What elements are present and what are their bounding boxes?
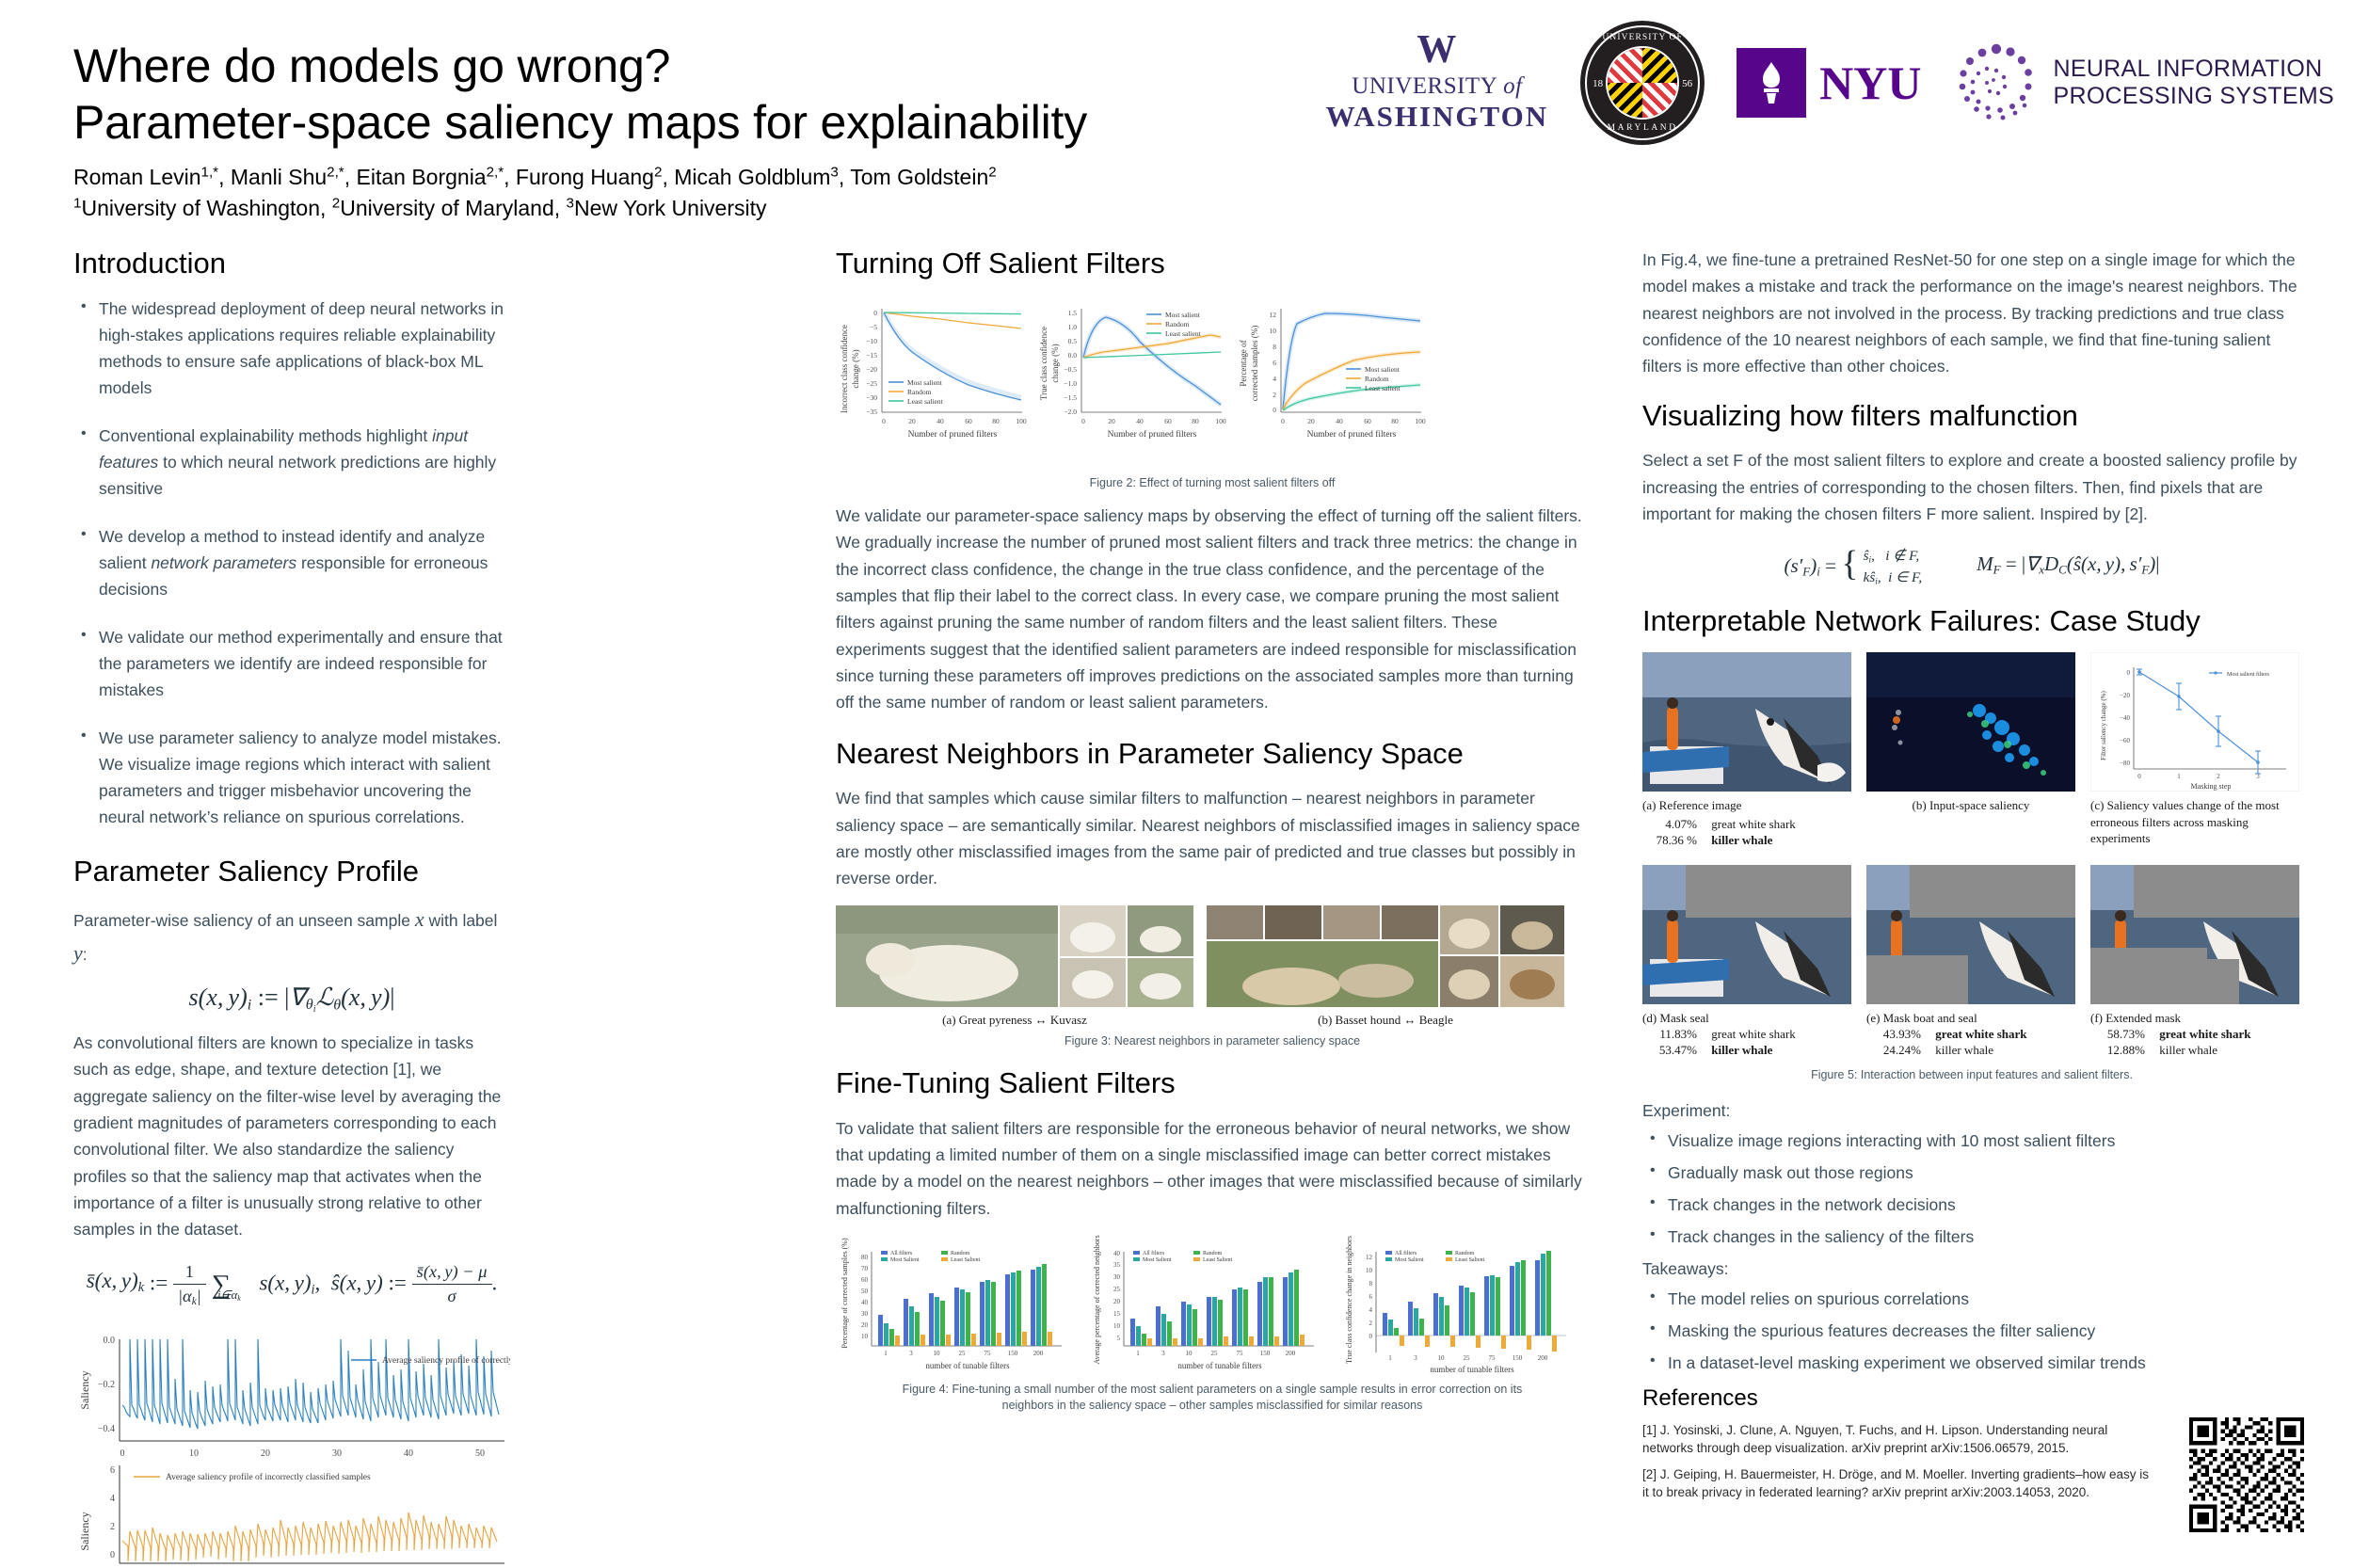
figure-5-panel-c: Filter saliency change (%) 0−20−40 −60−8… — [2090, 652, 2299, 847]
svg-text:Percentage of corrected sample: Percentage of corrected samples (%) — [840, 1238, 849, 1349]
svg-text:All filters: All filters — [890, 1250, 913, 1256]
svg-text:60: 60 — [1164, 417, 1172, 425]
equation-boosted-saliency: (s′F)i = { ŝi, i ∉ F, kŝi, i ∈ F, MF =… — [1642, 540, 2301, 588]
svg-text:10: 10 — [934, 1350, 941, 1357]
svg-text:−1.5: −1.5 — [1064, 393, 1077, 402]
svg-text:Saliency: Saliency — [78, 1512, 91, 1550]
qr-code[interactable] — [2189, 1417, 2304, 1532]
neurips-spiral-icon — [1953, 40, 2040, 126]
list-item: We validate our method experimentally an… — [73, 624, 510, 703]
figure-3-grid-a — [836, 905, 1193, 1007]
umd-year-left: 18 — [1593, 78, 1603, 89]
figure-4-svg: Percentage of corrected samples (%) 1020… — [836, 1235, 1589, 1376]
svg-text:60: 60 — [965, 417, 972, 425]
panel-d-tag: (d) Mask seal — [1642, 1010, 1851, 1026]
svg-text:Most salient: Most salient — [907, 378, 943, 387]
umd-seal-logo: UNIVERSITY OF MARYLAND 18 56 — [1580, 21, 1705, 145]
svg-text:4: 4 — [1273, 375, 1276, 383]
svg-text:25: 25 — [1113, 1286, 1121, 1293]
svg-text:0: 0 — [120, 1448, 125, 1459]
svg-text:Number of pruned filters: Number of pruned filters — [1108, 429, 1197, 440]
figure-5-row-2: (d) Mask seal 11.83% great white shark 5… — [1642, 865, 2301, 1058]
svg-text:75: 75 — [984, 1350, 992, 1357]
svg-text:20: 20 — [1113, 1298, 1121, 1305]
svg-text:0: 0 — [2127, 669, 2131, 677]
svg-text:0: 0 — [2137, 773, 2141, 780]
svg-text:6: 6 — [1273, 359, 1276, 367]
svg-text:−35: −35 — [866, 408, 877, 416]
experiment-label: Experiment: — [1642, 1097, 2301, 1124]
figure-1-saliency-profiles: Saliency 0.0 −0.2 −0.4 01020 304050 Aver… — [73, 1322, 510, 1568]
panel-a-image — [1642, 652, 1851, 792]
column-left: Introduction The widespread deployment o… — [73, 247, 510, 1568]
svg-text:−40: −40 — [2120, 714, 2130, 722]
svg-text:Random: Random — [907, 388, 932, 396]
figure-2-turning-off: Incorrect class confidence change (%) 0−… — [836, 296, 1589, 491]
svg-text:−5: −5 — [870, 323, 877, 331]
neurips-logo: NEURAL INFORMATION PROCESSING SYSTEMS — [1953, 40, 2334, 126]
profile-lead-text: Parameter-wise saliency of an unseen sam… — [73, 903, 510, 969]
svg-text:Average percentage of correcte: Average percentage of corrected neighbor… — [1093, 1235, 1101, 1365]
svg-text:150: 150 — [1513, 1354, 1523, 1362]
svg-text:Least Salient: Least Salient — [951, 1257, 980, 1263]
svg-text:10: 10 — [1270, 327, 1277, 335]
figure-4-caption: Figure 4: Fine-tuning a small number of … — [836, 1382, 1589, 1415]
figure-3-grid-b — [1207, 905, 1564, 1007]
heading-introduction: Introduction — [73, 247, 510, 280]
figure-4-caption-line2: neighbors in the saliency space – other … — [1002, 1399, 1423, 1412]
column-right: In Fig.4, we fine-tune a pretrained ResN… — [1642, 247, 2301, 1511]
svg-text:60: 60 — [1364, 417, 1371, 425]
panel-a-pred1: 4.07% great white shark — [1642, 816, 1851, 832]
svg-text:Most Salient: Most Salient — [1395, 1257, 1424, 1263]
svg-text:0: 0 — [110, 1550, 115, 1560]
poster-root: Where do models go wrong? Parameter-spac… — [0, 0, 2353, 1568]
svg-text:25: 25 — [1211, 1350, 1219, 1357]
heading-references: References — [1642, 1385, 2301, 1412]
svg-text:80: 80 — [861, 1254, 869, 1261]
panel-f-tag: (f) Extended mask — [2090, 1010, 2299, 1026]
svg-text:Least salient: Least salient — [907, 397, 944, 406]
introduction-bullets: The widespread deployment of deep neural… — [73, 296, 510, 830]
equation-boost-left: (s′F)i = { ŝi, i ∉ F, kŝi, i ∈ F, — [1785, 540, 1923, 588]
figure-3-panel-b: (b) Basset hound ↔ Beagle — [1207, 905, 1564, 1028]
svg-text:1: 1 — [884, 1350, 888, 1357]
fig4-intro-text: In Fig.4, we fine-tune a pretrained ResN… — [1642, 247, 2301, 380]
svg-text:0: 0 — [882, 417, 886, 425]
svg-text:Average saliency profile of co: Average saliency profile of correctly cl… — [382, 1355, 510, 1366]
svg-text:1: 1 — [1388, 1354, 1392, 1362]
svg-text:1: 1 — [1136, 1350, 1140, 1357]
svg-text:2: 2 — [110, 1522, 115, 1532]
figure-5-panel-b: (b) Input-space saliency — [1866, 652, 2075, 847]
figure-5-panel-a: (a) Reference image 4.07% great white sh… — [1642, 652, 1851, 847]
svg-text:−0.5: −0.5 — [1064, 365, 1077, 374]
svg-text:Least Salient: Least Salient — [1455, 1257, 1484, 1263]
svg-text:1.5: 1.5 — [1068, 309, 1078, 317]
svg-text:All filters: All filters — [1143, 1250, 1165, 1256]
svg-text:3: 3 — [909, 1350, 913, 1357]
uw-line2: WASHINGTON — [1326, 100, 1549, 134]
equation-saliency-definition: s(x, y)i := |∇θiℒθ(x, y)| — [73, 984, 510, 1015]
svg-text:True class confidence: True class confidence — [1039, 327, 1048, 400]
svg-text:30: 30 — [861, 1310, 869, 1318]
list-item: We use parameter saliency to analyze mod… — [73, 725, 510, 830]
svg-text:All filters: All filters — [1395, 1250, 1417, 1256]
svg-text:0.0: 0.0 — [104, 1336, 116, 1346]
svg-text:Most Salient: Most Salient — [1143, 1257, 1172, 1263]
list-item: The model relies on spurious correlation… — [1642, 1286, 2301, 1312]
takeaways-label: Takeaways: — [1642, 1256, 2301, 1282]
svg-text:Average saliency profile of in: Average saliency profile of incorrectly … — [166, 1472, 371, 1482]
svg-text:−1.0: −1.0 — [1064, 379, 1077, 388]
svg-text:Percentage of: Percentage of — [1239, 340, 1248, 386]
svg-text:1: 1 — [2177, 773, 2181, 780]
poster-title-line1: Where do models go wrong? — [73, 38, 1259, 94]
panel-a-tag: (a) Reference image — [1642, 797, 1851, 813]
figure-3-sublabel-a: (a) Great pyreness ↔ Kuvasz — [836, 1012, 1193, 1028]
svg-text:Filter saliency change (%): Filter saliency change (%) — [2100, 691, 2107, 760]
column-middle: Turning Off Salient Filters Incorrect cl… — [836, 247, 1589, 1415]
svg-text:40: 40 — [861, 1299, 869, 1306]
svg-text:80: 80 — [992, 417, 1000, 425]
svg-text:2: 2 — [1273, 391, 1276, 399]
list-item: Conventional explainability methods high… — [73, 423, 510, 502]
svg-text:10: 10 — [1438, 1354, 1446, 1362]
svg-text:0: 0 — [1369, 1333, 1373, 1340]
svg-text:8: 8 — [1369, 1280, 1373, 1288]
svg-text:100: 100 — [1415, 417, 1426, 425]
svg-text:−25: −25 — [866, 379, 877, 388]
svg-text:−10: −10 — [866, 337, 877, 345]
list-item: Visualize image regions interacting with… — [1642, 1128, 2301, 1154]
svg-text:6: 6 — [1369, 1293, 1373, 1301]
svg-text:10: 10 — [861, 1333, 869, 1340]
svg-text:2: 2 — [2217, 773, 2220, 780]
svg-text:2: 2 — [1369, 1320, 1373, 1327]
visualizing-body-text: Select a set F of the most salient filte… — [1642, 447, 2301, 527]
svg-text:0: 0 — [1081, 417, 1085, 425]
turning-off-body-text: We validate our parameter-space saliency… — [836, 503, 1589, 716]
panel-b-tag: (b) Input-space saliency — [1866, 797, 2075, 813]
affiliation-list: 1University of Washington, 2University o… — [73, 193, 1259, 224]
panel-d-pred2: 53.47% killer whale — [1642, 1042, 1851, 1058]
svg-text:40: 40 — [936, 417, 944, 425]
svg-text:12: 12 — [1366, 1254, 1373, 1261]
svg-text:200: 200 — [1286, 1350, 1296, 1357]
svg-text:−20: −20 — [866, 365, 877, 374]
list-item: Track changes in the saliency of the fil… — [1642, 1224, 2301, 1250]
author-list: Roman Levin1,*, Manli Shu2,*, Eitan Borg… — [73, 162, 1259, 193]
svg-text:Least salient: Least salient — [1165, 329, 1202, 338]
svg-text:Least salient: Least salient — [1365, 384, 1401, 392]
heading-interpretable-network-failures: Interpretable Network Failures: Case Stu… — [1642, 604, 2301, 638]
heading-turning-off-salient-filters: Turning Off Salient Filters — [836, 247, 1589, 280]
svg-text:0: 0 — [1281, 417, 1285, 425]
svg-text:−0.2: −0.2 — [98, 1380, 115, 1390]
svg-text:3: 3 — [1414, 1354, 1417, 1362]
svg-text:Incorrect class confidence: Incorrect class confidence — [840, 325, 849, 413]
svg-text:75: 75 — [1237, 1350, 1244, 1357]
reference-2: [2] J. Geiping, H. Bauermeister, H. Drög… — [1642, 1465, 2151, 1501]
reference-1: [1] J. Yosinski, J. Clune, A. Nguyen, T.… — [1642, 1421, 2151, 1457]
torch-icon — [1737, 48, 1806, 118]
panel-f-pred2: 12.88% killer whale — [2090, 1042, 2299, 1058]
svg-text:100: 100 — [1016, 417, 1027, 425]
svg-text:80: 80 — [1192, 417, 1199, 425]
svg-text:100: 100 — [1215, 417, 1226, 425]
list-item: Masking the spurious features decreases … — [1642, 1318, 2301, 1344]
figure-2-svg: Incorrect class confidence change (%) 0−… — [836, 296, 1589, 470]
figure-1-svg: Saliency 0.0 −0.2 −0.4 01020 304050 Aver… — [73, 1322, 510, 1568]
figure-3-panel-a: (a) Great pyreness ↔ Kuvasz — [836, 905, 1193, 1028]
figure-5-panel-f: (f) Extended mask 58.73% great white sha… — [2090, 865, 2299, 1058]
uw-line1: UNIVERSITY of — [1326, 73, 1549, 100]
svg-text:200: 200 — [1538, 1354, 1548, 1362]
panel-b-image — [1866, 652, 2075, 792]
figure-5-panel-e: (e) Mask boat and seal 43.93% great whit… — [1866, 865, 2075, 1058]
nearest-neighbors-body-text: We find that samples which cause similar… — [836, 785, 1589, 891]
svg-text:0.5: 0.5 — [1068, 337, 1078, 345]
heading-nearest-neighbors: Nearest Neighbors in Parameter Saliency … — [836, 737, 1589, 771]
svg-text:10: 10 — [1186, 1350, 1193, 1357]
nyu-wordmark: NYU — [1819, 56, 1921, 110]
heading-parameter-saliency-profile: Parameter Saliency Profile — [73, 855, 510, 888]
svg-text:40: 40 — [1113, 1250, 1121, 1257]
svg-text:Number of pruned filters: Number of pruned filters — [1307, 429, 1397, 440]
svg-text:Most salient: Most salient — [1165, 311, 1201, 319]
svg-text:Random: Random — [1203, 1251, 1223, 1256]
svg-text:30: 30 — [332, 1448, 342, 1459]
neurips-wordmark: NEURAL INFORMATION PROCESSING SYSTEMS — [2053, 56, 2334, 110]
list-item: Track changes in the network decisions — [1642, 1192, 2301, 1218]
figure-4-fine-tuning: Percentage of corrected samples (%) 1020… — [836, 1235, 1589, 1415]
svg-text:Random: Random — [1455, 1251, 1475, 1256]
svg-text:number of tunable filters: number of tunable filters — [1430, 1365, 1514, 1374]
svg-text:70: 70 — [861, 1265, 869, 1272]
svg-text:Number of pruned filters: Number of pruned filters — [908, 429, 998, 440]
figure-3-sublabel-b: (b) Basset hound ↔ Beagle — [1207, 1012, 1564, 1028]
svg-text:1.0: 1.0 — [1068, 323, 1078, 331]
panel-c-tag: (c) Saliency values change of the most e… — [2090, 797, 2299, 845]
list-item: Gradually mask out those regions — [1642, 1160, 2301, 1186]
umd-top-text: UNIVERSITY OF — [1580, 33, 1705, 42]
svg-text:4: 4 — [110, 1494, 115, 1504]
svg-text:35: 35 — [1113, 1261, 1121, 1269]
list-item: In a dataset-level masking experiment we… — [1642, 1350, 2301, 1376]
figure-4-caption-line1: Figure 4: Fine-tuning a small number of … — [903, 1383, 1523, 1396]
panel-f-image — [2090, 865, 2299, 1004]
svg-text:150: 150 — [1260, 1350, 1271, 1357]
svg-text:−0.4: −0.4 — [98, 1424, 115, 1434]
svg-text:20: 20 — [1108, 417, 1115, 425]
svg-text:10: 10 — [189, 1448, 199, 1459]
panel-e-pred2: 24.24% killer whale — [1866, 1042, 2075, 1058]
svg-text:change (%): change (%) — [1050, 344, 1060, 382]
heading-visualizing-how-filters-malfunction: Visualizing how filters malfunction — [1642, 399, 2301, 433]
poster-header: Where do models go wrong? Parameter-spac… — [0, 0, 2353, 243]
svg-text:15: 15 — [1113, 1310, 1121, 1318]
svg-text:True class confidence change i: True class confidence change in neighbor… — [1345, 1235, 1353, 1364]
svg-text:−60: −60 — [2120, 737, 2130, 744]
svg-text:−2.0: −2.0 — [1064, 408, 1077, 416]
svg-text:40: 40 — [404, 1448, 413, 1459]
panel-f-pred1: 58.73% great white shark — [2090, 1026, 2299, 1042]
svg-text:0: 0 — [1273, 406, 1276, 414]
svg-text:30: 30 — [1113, 1273, 1121, 1281]
panel-e-image — [1866, 865, 2075, 1004]
svg-text:5: 5 — [1117, 1335, 1121, 1342]
svg-text:number of tunable filters: number of tunable filters — [925, 1361, 1010, 1370]
svg-text:change (%): change (%) — [851, 349, 860, 388]
figure-5-panel-d: (d) Mask seal 11.83% great white shark 5… — [1642, 865, 1851, 1058]
panel-d-image — [1642, 865, 1851, 1004]
figure-5-row-1: (a) Reference image 4.07% great white sh… — [1642, 652, 2301, 847]
figure-3-caption: Figure 3: Nearest neighbors in parameter… — [836, 1033, 1589, 1049]
svg-text:Most Salient: Most Salient — [890, 1257, 920, 1263]
svg-text:60: 60 — [861, 1276, 869, 1284]
svg-text:number of tunable filters: number of tunable filters — [1177, 1361, 1262, 1370]
svg-text:150: 150 — [1008, 1350, 1018, 1357]
svg-text:Masking step: Masking step — [2191, 782, 2232, 791]
svg-text:10: 10 — [1366, 1267, 1373, 1274]
uw-w-glyph: W — [1326, 32, 1549, 70]
svg-text:Most salient: Most salient — [1365, 365, 1401, 374]
svg-text:−30: −30 — [866, 393, 877, 402]
svg-text:40: 40 — [1336, 417, 1343, 425]
panel-e-tag: (e) Mask boat and seal — [1866, 1010, 2075, 1026]
umd-shield — [1606, 46, 1679, 120]
experiment-list: Visualize image regions interacting with… — [1642, 1128, 2301, 1250]
neurips-line1: NEURAL INFORMATION — [2053, 56, 2334, 83]
uw-logo: W UNIVERSITY of WASHINGTON — [1326, 32, 1549, 134]
figure-5-case-study: (a) Reference image 4.07% great white sh… — [1642, 652, 2301, 1083]
takeaways-list: The model relies on spurious correlation… — [1642, 1286, 2301, 1376]
svg-text:50: 50 — [861, 1288, 869, 1295]
svg-text:4: 4 — [1369, 1306, 1373, 1314]
svg-text:6: 6 — [110, 1465, 115, 1476]
svg-text:−20: −20 — [2120, 692, 2130, 699]
profile-body-text: As convolutional filters are known to sp… — [73, 1030, 510, 1243]
svg-text:20: 20 — [861, 1321, 869, 1329]
svg-text:Most salient filters: Most salient filters — [2227, 671, 2270, 678]
list-item: The widespread deployment of deep neural… — [73, 296, 510, 401]
list-item: We develop a method to instead identify … — [73, 523, 510, 602]
panel-a-pred2: 78.36 % killer whale — [1642, 832, 1851, 848]
svg-text:3: 3 — [1161, 1350, 1165, 1357]
svg-text:80: 80 — [1391, 417, 1399, 425]
figure-3-nearest-neighbors: (a) Great pyreness ↔ Kuvasz (b) Basset h… — [836, 905, 1589, 1028]
svg-text:Random: Random — [1165, 320, 1190, 328]
svg-text:200: 200 — [1033, 1350, 1044, 1357]
svg-text:0.0: 0.0 — [1068, 351, 1078, 360]
svg-text:Saliency: Saliency — [78, 1370, 91, 1409]
panel-d-pred1: 11.83% great white shark — [1642, 1026, 1851, 1042]
svg-text:corrected samples (%): corrected samples (%) — [1250, 325, 1259, 400]
svg-text:25: 25 — [1464, 1354, 1471, 1362]
equation-boost-right: MF = |∇xDC(ŝ(x, y), s′F)| — [1977, 552, 2159, 578]
svg-text:Random: Random — [1365, 375, 1389, 383]
figure-5-caption: Figure 5: Interaction between input feat… — [1642, 1067, 2301, 1083]
svg-text:40: 40 — [1136, 417, 1144, 425]
svg-text:50: 50 — [475, 1448, 485, 1459]
heading-fine-tuning-salient-filters: Fine-Tuning Salient Filters — [836, 1066, 1589, 1100]
umd-year-right: 56 — [1682, 78, 1692, 89]
equation-standardization: s̄(x, y)k := 1|αk| ∑i∈αk s(x, y)i, ŝ(x,… — [73, 1262, 510, 1307]
poster-title-line2: Parameter-space saliency maps for explai… — [73, 94, 1259, 151]
fine-tuning-body-text: To validate that salient filters are res… — [836, 1115, 1589, 1222]
panel-c-chart: Filter saliency change (%) 0−20−40 −60−8… — [2090, 652, 2299, 792]
logo-strip: W UNIVERSITY of WASHINGTON UNIVERSITY OF… — [1326, 21, 2334, 145]
svg-text:20: 20 — [1307, 417, 1315, 425]
svg-text:Least Salient: Least Salient — [1203, 1257, 1232, 1263]
svg-text:20: 20 — [261, 1448, 270, 1459]
svg-text:Random: Random — [951, 1251, 970, 1256]
panel-e-pred1: 43.93% great white shark — [1866, 1026, 2075, 1042]
svg-text:8: 8 — [1273, 343, 1276, 351]
svg-text:25: 25 — [959, 1350, 967, 1357]
svg-text:20: 20 — [908, 417, 916, 425]
nyu-logo: NYU — [1737, 48, 1921, 118]
umd-bottom-text: MARYLAND — [1580, 123, 1705, 133]
svg-text:75: 75 — [1489, 1354, 1497, 1362]
title-block: Where do models go wrong? Parameter-spac… — [73, 38, 1259, 223]
svg-text:−80: −80 — [2120, 760, 2130, 767]
reference-list: [1] J. Yosinski, J. Clune, A. Nguyen, T.… — [1642, 1421, 2151, 1502]
figure-2-caption: Figure 2: Effect of turning most salient… — [836, 475, 1589, 491]
neurips-line2: PROCESSING SYSTEMS — [2053, 83, 2334, 110]
svg-text:0: 0 — [873, 309, 877, 317]
svg-text:−15: −15 — [866, 351, 877, 360]
svg-text:12: 12 — [1270, 311, 1277, 319]
svg-text:10: 10 — [1113, 1322, 1121, 1330]
